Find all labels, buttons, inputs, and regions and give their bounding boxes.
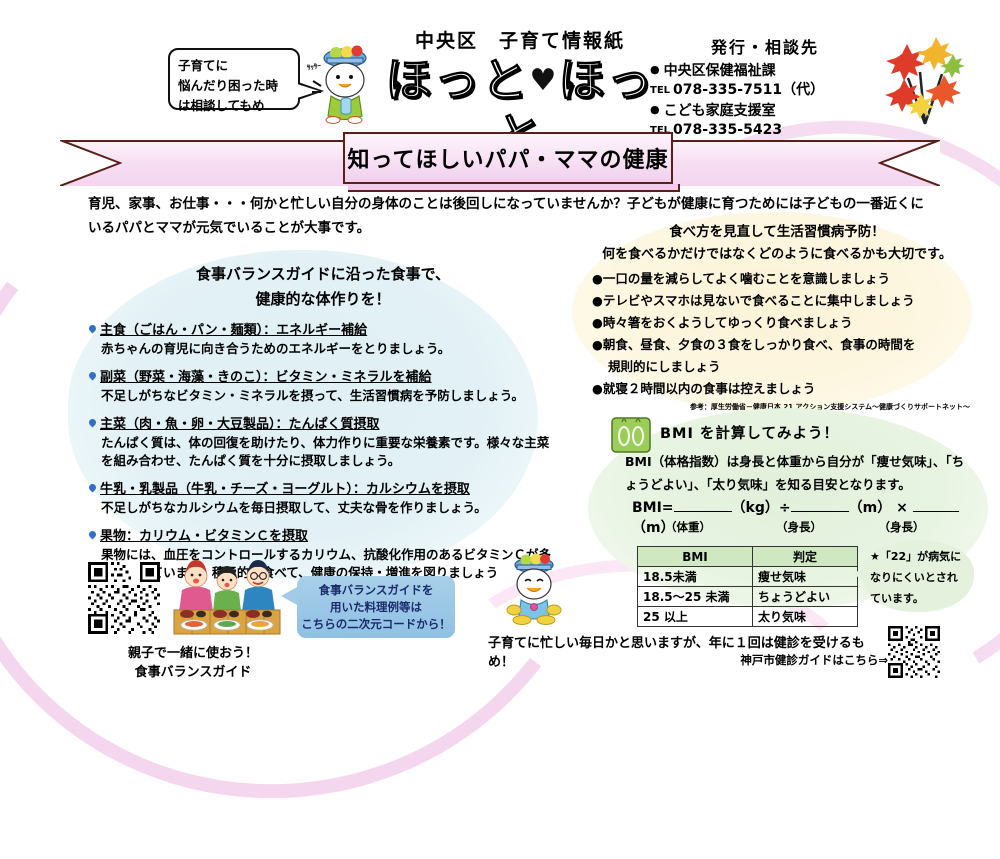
speech-line-2: 悩んだり困った時: [178, 76, 290, 96]
publisher-dept-1: 中央区保健福祉課: [664, 63, 776, 79]
speech-line-3: は相談してもめ: [178, 96, 290, 116]
table-row: 18.5未満 痩せ気味: [638, 567, 858, 587]
ribbon-notch-outline-left: [60, 140, 122, 186]
food-item-heading: 副菜（野菜・海藻・きのこ）：ビタミン・ミネラルを補給: [88, 369, 558, 387]
qr-caption-line-2: 食事バランスガイド: [88, 663, 298, 682]
eating-tip-1: ●一口の量を減らしてよく噛むことを意識しましょう: [578, 268, 976, 290]
speech-line-1: 子育てに: [178, 56, 290, 76]
food-item-fukusai: 副菜（野菜・海藻・きのこ）：ビタミン・ミネラルを補給 不足しがちなビタミン・ミネ…: [88, 369, 558, 405]
food-item-body: 赤ちゃんの育児に向き合うためのエネルギーをとりましょう。: [88, 340, 558, 358]
bmi-lead: BMI（体格指数）は身長と体重から自分が「痩せ気味」、「ちょうどよい」、「太り気…: [625, 450, 975, 496]
health-guide-link-text: 神戸市健診ガイドはこちら⇒: [588, 652, 888, 668]
bmi-times: ×: [896, 500, 908, 516]
bmi-label-height2: （身長）: [854, 519, 949, 535]
right-section-lead: 何を食べるかだけではなくどのように食べるかも大切です。: [578, 244, 976, 265]
masthead-kicker: 中央区 子育て情報紙: [370, 26, 670, 53]
qr-caption-line-1: 親子で一緒に使おう！: [88, 644, 298, 663]
bmi-table: BMI 判定 18.5未満 痩せ気味 18.5～25 未満 ちょうどよい 25 …: [637, 546, 858, 627]
bmi-note-bubble: ★「22」が病気になりにくいとされています。: [862, 540, 974, 612]
duck-mascot-sitting-icon: [497, 548, 571, 626]
food-item-body: たんぱく質は、体の回復を助けたり、体力作りに重要な栄養素です。様々な主菜を組み合…: [88, 434, 558, 470]
table-row: 18.5～25 未満 ちょうどよい: [638, 587, 858, 607]
mascot-speech-bubble: 子育てに 悩んだり困った時 は相談してもめ: [168, 48, 300, 110]
kobe-health-guide-qr-code[interactable]: [888, 626, 940, 678]
bmi-label-height1: （身長）: [744, 519, 854, 535]
food-item-heading-text: 主食（ごはん・パン・麺類）：エネルギー補給: [100, 323, 367, 338]
qr-caption: 親子で一緒に使おう！ 食事バランスガイド: [88, 644, 298, 682]
food-item-heading-text: 主菜（肉・魚・卵・大豆製品）：たんぱく質摂取: [100, 417, 380, 432]
food-item-shushoku: 主食（ごはん・パン・麺類）：エネルギー補給 赤ちゃんの育児に向き合うためのエネル…: [88, 322, 558, 358]
right-section: 食べ方を見直して生活習慣病予防！ 何を食べるかだけではなくどのように食べるかも大…: [578, 220, 976, 412]
pin-icon: [88, 372, 97, 381]
food-item-heading-text: 牛乳・乳製品（牛乳・チーズ・ヨーグルト）：カルシウムを摂取: [100, 482, 470, 497]
food-item-heading: 牛乳・乳製品（牛乳・チーズ・ヨーグルト）：カルシウムを摂取: [88, 481, 558, 499]
banner-ribbon: 知ってほしいパパ・ママの健康: [60, 132, 940, 194]
left-title-line-1: 食事バランスガイドに沿った食事で、: [88, 262, 558, 287]
ribbon-notch-outline-right: [878, 140, 940, 186]
tel-icon: TEL: [650, 85, 670, 96]
left-section: 食事バランスガイドに沿った食事で、 健康的な体作りを！ 主食（ごはん・パン・麺類…: [88, 262, 558, 593]
publisher-row-3: ●こども家庭支援室: [650, 100, 880, 121]
eating-tip-4: ●朝食、昼食、夕食の３食をしっかり食べ、食事の時間を: [578, 334, 976, 356]
maple-leaves-icon: [880, 32, 970, 128]
table-row: 25 以上 太り気味: [638, 607, 858, 627]
food-item-heading: 主食（ごはん・パン・麺類）：エネルギー補給: [88, 322, 558, 340]
bmi-title: BMI を計算してみよう！: [660, 422, 839, 443]
bmi-col-header-bmi: BMI: [638, 547, 753, 567]
left-title-line-2: 健康的な体作りを！: [88, 287, 558, 312]
food-item-shusai: 主菜（肉・魚・卵・大豆製品）：たんぱく質摂取 たんぱく質は、体の回復を助けたり、…: [88, 416, 558, 470]
blue-bubble-line-1: 食事バランスガイドを: [301, 582, 451, 599]
bmi-height1-blank[interactable]: [791, 511, 849, 512]
bmi-unit-m1: （m）: [849, 500, 892, 516]
food-item-dairy: 牛乳・乳製品（牛乳・チーズ・ヨーグルト）：カルシウムを摂取 不足しがちなカルシウ…: [88, 481, 558, 517]
pin-icon: [88, 419, 97, 428]
food-item-heading-text: 副菜（野菜・海藻・きのこ）：ビタミン・ミネラルを補給: [100, 370, 432, 385]
food-item-heading: 果物：カリウム・ビタミンＣを摂取: [88, 528, 558, 546]
header: 子育てに 悩んだり困った時 は相談してもめ ｻｯｻｰ 中央区 子育て情報紙 ほっ: [0, 0, 1000, 130]
banner-plate-shadow: [348, 184, 680, 192]
family-eating-illustration: [168, 556, 286, 638]
publisher-row-2: TEL078-335-7511（代）: [650, 81, 880, 100]
publisher-row-1: ●中央区保健福祉課: [650, 60, 880, 81]
bmi-unit-kg: （kg）: [732, 500, 779, 516]
table-header-row: BMI 判定: [638, 547, 858, 567]
bmi-range-2: 18.5～25 未満: [638, 587, 753, 607]
heart-icon: ♥: [530, 63, 559, 98]
food-item-heading-text: 果物：カリウム・ビタミンＣを摂取: [100, 529, 308, 544]
bmi-col-header-judgement: 判定: [753, 547, 858, 567]
bullet-icon: ●: [650, 103, 660, 116]
eating-tip-3: ●時々箸をおくようしてゆっくり食べましょう: [578, 312, 976, 334]
bmi-formula-prefix: BMI=: [632, 500, 674, 516]
food-item-body: 不足しがちなビタミン・ミネラルを摂って、生活習慣病を予防しましょう。: [88, 387, 558, 405]
food-item-heading: 主菜（肉・魚・卵・大豆製品）：たんぱく質摂取: [88, 416, 558, 434]
bmi-judgement-1: 痩せ気味: [753, 567, 858, 587]
bmi-label-weight: （体重）: [632, 519, 744, 535]
bullet-icon: ●: [650, 63, 660, 76]
banner-title: 知ってほしいパパ・ママの健康: [348, 142, 669, 174]
eating-tip-2: ●テレビやスマホは見ないで食べることに集中しましょう: [578, 290, 976, 312]
food-item-body: 不足しがちなカルシウムを毎日摂取して、丈夫な骨を作りましょう。: [88, 499, 558, 517]
newsletter-page: 子育てに 悩んだり困った時 は相談してもめ ｻｯｻｰ 中央区 子育て情報紙 ほっ: [0, 0, 1000, 707]
eating-tip-5: ●就寝２時間以内の食事は控えましょう: [578, 378, 976, 400]
publisher-dept-2: こども家庭支援室: [664, 103, 776, 119]
left-section-title: 食事バランスガイドに沿った食事で、 健康的な体作りを！: [88, 262, 558, 312]
pin-icon: [88, 531, 97, 540]
bmi-range-1: 18.5未満: [638, 567, 753, 587]
banner-title-plate: 知ってほしいパパ・ママの健康: [343, 132, 673, 184]
publisher-title: 発行・相談先: [650, 34, 880, 58]
bmi-weight-blank[interactable]: [674, 511, 732, 512]
logo-left: ほっと: [386, 53, 530, 107]
food-balance-guide-qr-code[interactable]: [88, 562, 160, 634]
qr-instruction-bubble: 食事バランスガイドを 用いた料理例等は こちらの二次元コードから！: [297, 576, 455, 638]
bmi-judgement-3: 太り気味: [753, 607, 858, 627]
blue-bubble-line-3: こちらの二次元コードから！: [301, 616, 451, 633]
eating-tip-4-continued: 規則的にしましょう: [578, 356, 976, 378]
bmi-divide: ÷: [779, 500, 791, 516]
bmi-range-3: 25 以上: [638, 607, 753, 627]
bmi-formula-labels: （体重）（身長）（身長）: [632, 519, 972, 535]
publisher-phone-1: 078-335-7511（代）: [673, 82, 824, 98]
publisher-info: 発行・相談先 ●中央区保健福祉課 TEL078-335-7511（代） ●こども…: [650, 34, 880, 140]
pin-icon: [88, 325, 97, 334]
bmi-height2-blank[interactable]: [913, 511, 959, 512]
blue-bubble-line-2: 用いた料理例等は: [301, 599, 451, 616]
bmi-judgement-2: ちょうどよい: [753, 587, 858, 607]
pin-icon: [88, 484, 97, 493]
right-section-title: 食べ方を見直して生活習慣病予防！: [578, 220, 976, 240]
